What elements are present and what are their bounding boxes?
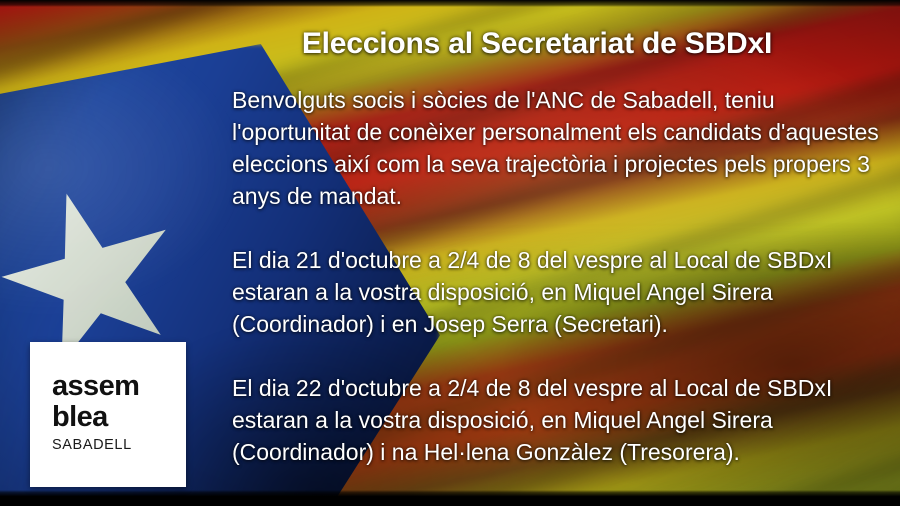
logo-text-block: assem blea SABADELL [52,371,139,453]
paragraph-day-22: El dia 22 d'octubre a 2/4 de 8 del vespr… [232,372,880,468]
page-title: Eleccions al Secretariat de SBDxI [232,27,842,61]
poster-content: Eleccions al Secretariat de SBDxI Benvol… [0,0,900,506]
logo-line-1: assem [52,371,139,402]
poster: Eleccions al Secretariat de SBDxI Benvol… [0,0,900,506]
assemblea-sabadell-logo: assem blea SABADELL [30,342,186,487]
logo-subtitle: SABADELL [52,437,139,453]
logo-line-2: blea [52,402,139,433]
paragraph-day-21: El dia 21 d'octubre a 2/4 de 8 del vespr… [232,244,880,340]
poster-body: Benvolguts socis i sòcies de l'ANC de Sa… [232,84,880,468]
paragraph-intro: Benvolguts socis i sòcies de l'ANC de Sa… [232,84,880,212]
